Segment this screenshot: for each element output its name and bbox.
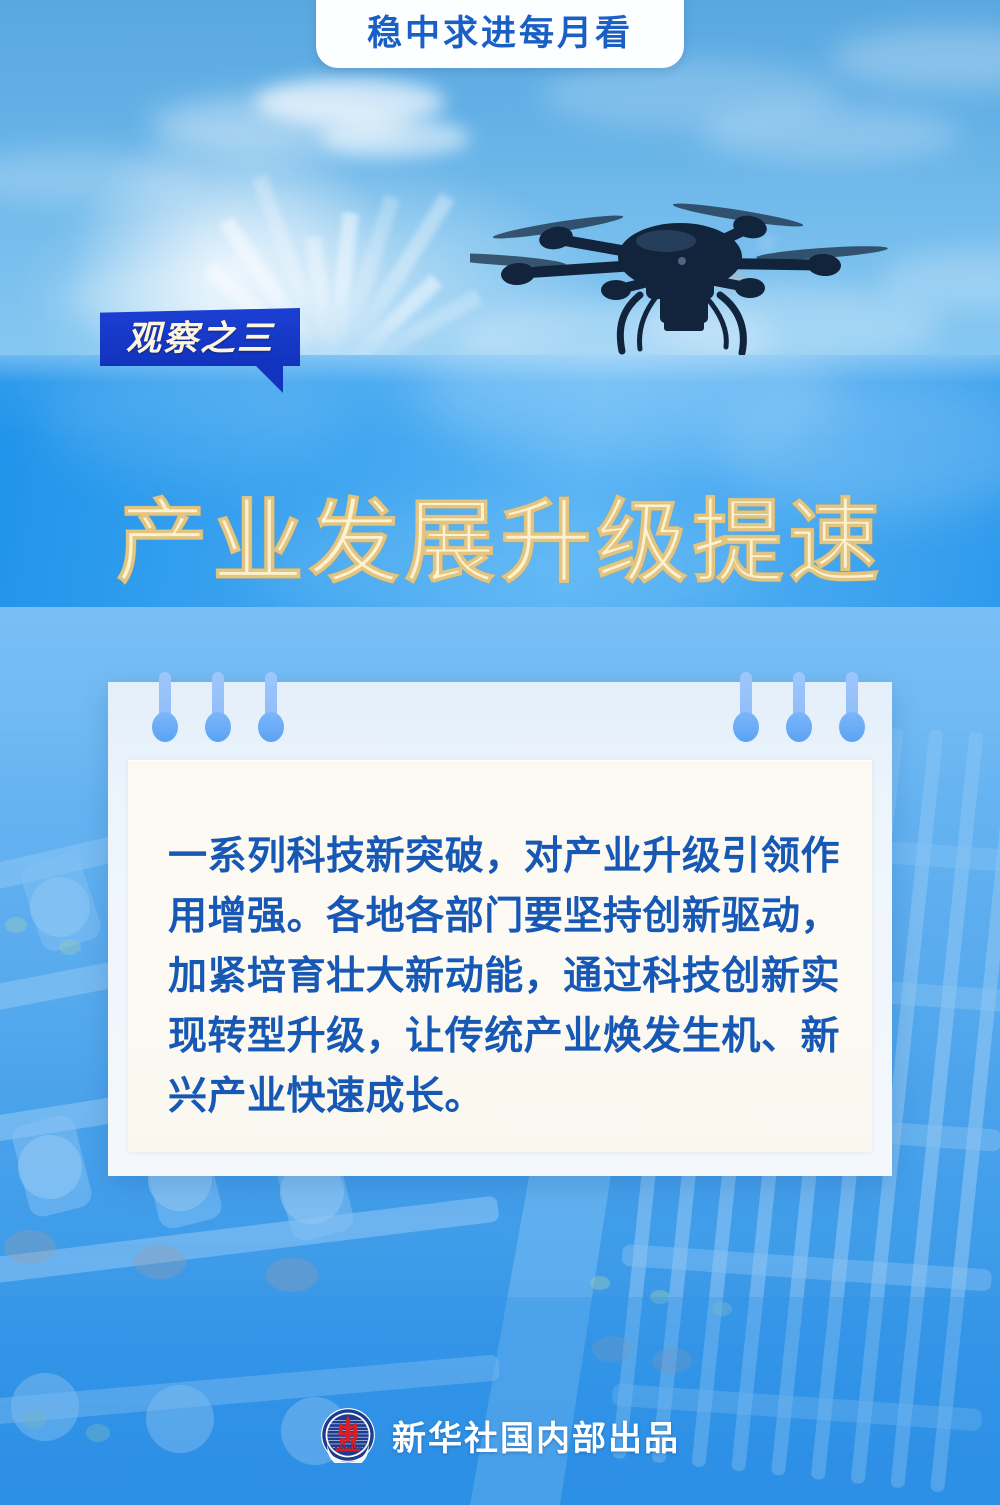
note-inner-panel: 一系列科技新突破，对产业升级引领作用增强。各地各部门要坚持创新驱动，加紧培育壮大… [128,760,872,1152]
binder-ring-head [258,712,284,742]
binder-ring-head [839,712,865,742]
binder-ring-head [786,712,812,742]
band-cloud [40,365,340,475]
header-pill-label: 稳中求进每月看 [367,5,633,56]
binder-ring [733,672,759,744]
binder-ring [152,672,178,744]
binder-ring [786,672,812,744]
footer: XINHUA 新华社国内部出品 [0,1400,1000,1470]
xinhua-logo-wordmark: XINHUA [333,1444,363,1452]
observation-tag-label: 观察之三 [100,315,300,363]
header-pill[interactable]: 稳中求进每月看 [316,0,684,68]
cloud [320,118,470,158]
binder-ring [839,672,865,744]
note-body-text: 一系列科技新突破，对产业升级引领作用增强。各地各部门要坚持创新驱动，加紧培育壮大… [168,827,840,1127]
footer-credit: 新华社国内部出品 [392,1411,680,1460]
binder-ring [258,672,284,744]
page-title: 产业发展升级提速 [0,496,1000,588]
cloud [700,105,960,163]
observation-tag: 观察之三 [100,308,300,376]
xinhua-logo-icon: XINHUA [320,1407,376,1463]
binder-ring-head [152,712,178,742]
cloud [830,28,1000,90]
drone-hexacopter-icon [470,185,890,360]
note-card: 一系列科技新突破，对产业升级引领作用增强。各地各部门要坚持创新驱动，加紧培育壮大… [108,682,892,1176]
poster-root: 产业发展升级提速 观察之三 稳中求进每月看 [0,0,1000,1505]
binder-ring [205,672,231,744]
binder-ring-head [205,712,231,742]
binder-ring-head [733,712,759,742]
